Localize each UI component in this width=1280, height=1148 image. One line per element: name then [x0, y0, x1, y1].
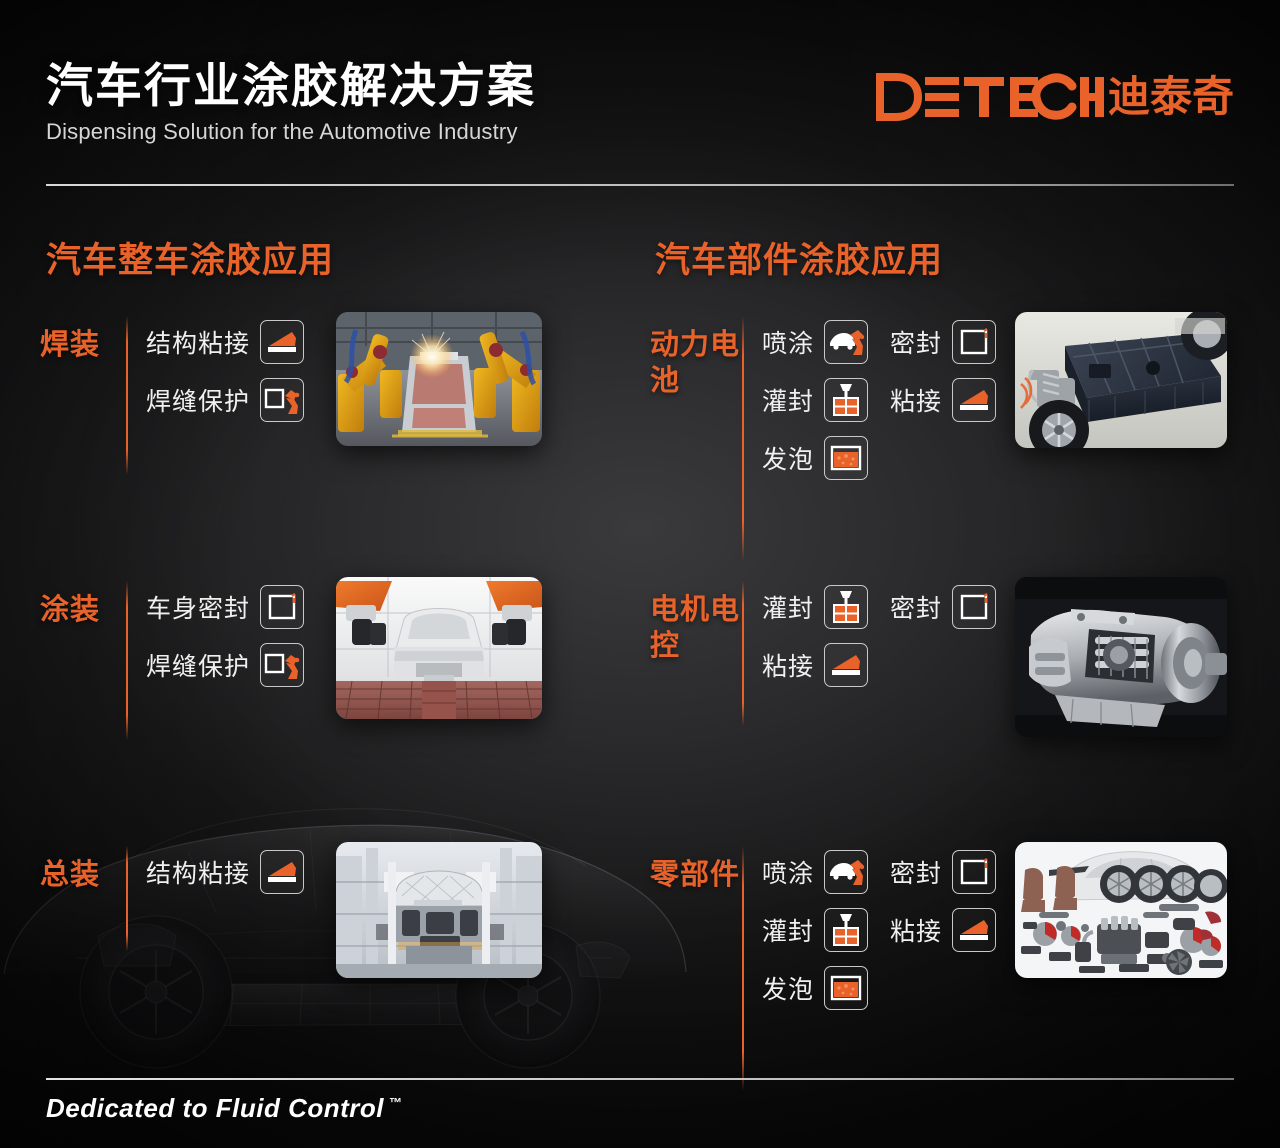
feature-item[interactable]: 发泡: [762, 436, 868, 480]
group-motor-control: 电机电控 灌封: [650, 571, 1250, 836]
feature-item[interactable]: 密封: [890, 585, 996, 629]
seam-sealing-robot-icon: [260, 643, 304, 687]
brand-logo-chinese: 迪泰奇: [1108, 76, 1234, 118]
header-divider: [46, 184, 1234, 186]
final-assembly-photo: [336, 842, 542, 978]
sealing-icon: [952, 320, 996, 364]
poster-header: 汽车行业涂胶解决方案 Dispensing Solution for the A…: [46, 58, 1234, 186]
foaming-icon: [824, 436, 868, 480]
feature-label: 灌封: [762, 382, 814, 418]
feature-label: 密封: [890, 589, 942, 625]
battery-pack-photo: [1015, 312, 1227, 448]
bonding-icon: [824, 643, 868, 687]
section-component-applications: 动力电池 喷涂 密封: [650, 306, 1250, 1101]
feature-list-motor-control: 灌封 密封: [762, 571, 996, 687]
seam-sealing-robot-icon: [260, 378, 304, 422]
footer-divider: [46, 1078, 1234, 1080]
feature-label: 密封: [890, 324, 942, 360]
feature-list-power-battery: 喷涂 密封: [762, 306, 996, 480]
group-divider: [742, 581, 744, 726]
feature-item[interactable]: 密封: [890, 320, 996, 364]
feature-label: 喷涂: [762, 324, 814, 360]
potting-icon: [824, 908, 868, 952]
feature-label: 喷涂: [762, 854, 814, 890]
foaming-icon: [824, 966, 868, 1010]
section-heading-vehicle: 汽车整车涂胶应用: [46, 232, 334, 283]
auto-parts-photo: [1015, 842, 1227, 978]
detech-wordmark-icon: [872, 72, 1104, 122]
feature-label: 结构粘接: [146, 324, 250, 360]
feature-list-components: 喷涂 密封: [762, 836, 996, 1010]
sealing-icon: [952, 585, 996, 629]
feature-label: 发泡: [762, 440, 814, 476]
feature-list-final-assembly: 结构粘接: [146, 836, 304, 894]
stage-label-power-battery: 动力电池: [650, 306, 742, 400]
spray-coating-icon: [824, 320, 868, 364]
feature-label: 结构粘接: [146, 854, 250, 890]
feature-label: 粘接: [890, 912, 942, 948]
group-components: 零部件 喷涂 密封: [650, 836, 1250, 1101]
potting-icon: [824, 585, 868, 629]
feature-label: 焊缝保护: [146, 382, 250, 418]
stage-label-components: 零部件: [650, 836, 742, 894]
footer-tagline: Dedicated to Fluid Control™: [46, 1093, 403, 1124]
feature-label: 灌封: [762, 589, 814, 625]
group-divider: [126, 316, 128, 475]
feature-item[interactable]: 焊缝保护: [146, 643, 304, 687]
structural-bonding-icon: [260, 850, 304, 894]
stage-label-motor-control: 电机电控: [650, 571, 742, 665]
feature-list-welding: 结构粘接 焊缝保护: [146, 306, 304, 422]
body-sealing-icon: [260, 585, 304, 629]
section-vehicle-applications: 焊装 结构粘接 焊缝保护: [40, 306, 640, 1101]
motor-assembly-photo: [1015, 577, 1227, 737]
feature-item[interactable]: 密封: [890, 850, 996, 894]
group-painting: 涂装 车身密封 焊缝保护: [40, 571, 640, 836]
brand-logo: 迪泰奇: [872, 72, 1234, 122]
group-divider: [742, 316, 744, 561]
feature-label: 车身密封: [146, 589, 250, 625]
feature-label: 焊缝保护: [146, 647, 250, 683]
potting-icon: [824, 378, 868, 422]
feature-item[interactable]: 车身密封: [146, 585, 304, 629]
feature-item[interactable]: 喷涂: [762, 320, 868, 364]
feature-item[interactable]: 灌封: [762, 378, 868, 422]
section-heading-components: 汽车部件涂胶应用: [655, 232, 943, 283]
stage-label-final-assembly: 总装: [40, 836, 126, 894]
page-subtitle: Dispensing Solution for the Automotive I…: [46, 119, 1234, 145]
sealing-icon: [952, 850, 996, 894]
structural-bonding-icon: [260, 320, 304, 364]
welding-line-photo: [336, 312, 542, 446]
poster-canvas: 汽车行业涂胶解决方案 Dispensing Solution for the A…: [0, 0, 1280, 1148]
feature-label: 发泡: [762, 970, 814, 1006]
paint-booth-photo: [336, 577, 542, 719]
feature-item[interactable]: 粘接: [890, 908, 996, 952]
feature-item[interactable]: 焊缝保护: [146, 378, 304, 422]
feature-label: 灌封: [762, 912, 814, 948]
feature-item[interactable]: 结构粘接: [146, 320, 304, 364]
feature-label: 粘接: [890, 382, 942, 418]
stage-label-welding: 焊装: [40, 306, 126, 364]
feature-label: 粘接: [762, 647, 814, 683]
feature-item[interactable]: 灌封: [762, 585, 868, 629]
trademark-symbol: ™: [389, 1095, 403, 1110]
group-power-battery: 动力电池 喷涂 密封: [650, 306, 1250, 571]
feature-item[interactable]: 发泡: [762, 966, 868, 1010]
feature-item[interactable]: 粘接: [762, 643, 868, 687]
feature-item[interactable]: 灌封: [762, 908, 868, 952]
group-divider: [126, 846, 128, 951]
group-welding: 焊装 结构粘接 焊缝保护: [40, 306, 640, 571]
stage-label-painting: 涂装: [40, 571, 126, 629]
feature-item[interactable]: 喷涂: [762, 850, 868, 894]
feature-item[interactable]: 结构粘接: [146, 850, 304, 894]
bonding-icon: [952, 908, 996, 952]
group-final-assembly: 总装 结构粘接: [40, 836, 640, 1101]
feature-list-painting: 车身密封 焊缝保护: [146, 571, 304, 687]
feature-label: 密封: [890, 854, 942, 890]
group-divider: [126, 581, 128, 740]
group-divider: [742, 846, 744, 1091]
bonding-icon: [952, 378, 996, 422]
feature-item[interactable]: 粘接: [890, 378, 996, 422]
footer-tagline-text: Dedicated to Fluid Control: [46, 1093, 384, 1123]
spray-coating-icon: [824, 850, 868, 894]
